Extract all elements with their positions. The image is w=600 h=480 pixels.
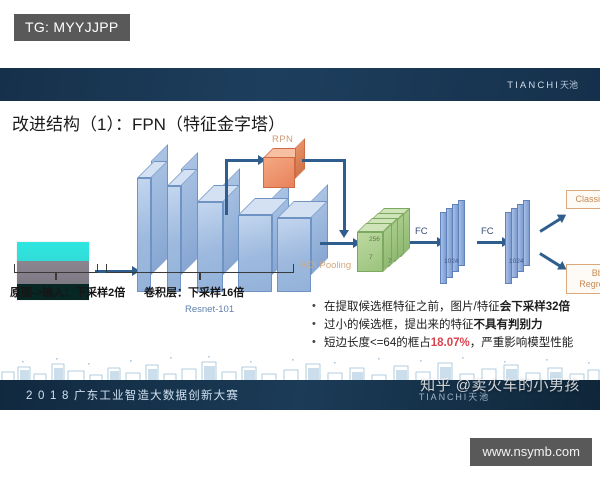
fc-layer-stack-2: 1024 (505, 200, 539, 278)
resnet-block-3 (197, 202, 223, 292)
brace-right (106, 264, 294, 273)
arrow-to-rpn (225, 159, 259, 162)
bullet-2-bold: 不具有判别力 (474, 319, 543, 331)
footer-event-title: 2 0 1 8 广东工业智造大数据创新大赛 (26, 387, 239, 403)
bullet-1-plain: 在提取候选框特征之前，图片/特征 (324, 301, 500, 313)
fc-dim-label-2: 1024 (509, 258, 523, 265)
bbox-line-1: Bbox (592, 268, 600, 279)
bullet-item-2: 过小的候选框，提出来的特征不具有判别力 (312, 318, 573, 333)
screenshot-root: TG: MYYJJPP TIANCHI天池 改进结构（1）：FPN（特征金字塔） (0, 0, 600, 480)
rpn-branch-vertical (225, 160, 228, 215)
bullet-1-bold: 会下采样32倍 (500, 301, 570, 313)
bbox-line-2: Regression (579, 279, 600, 290)
presentation-slide: TIANCHI天池 改进结构（1）：FPN（特征金字塔） (0, 68, 600, 410)
bullet-3-plain: 短边长度<=64的框占 (324, 337, 431, 349)
fc-dim-label-1: 1024 (444, 258, 458, 265)
arrow-fc-1 (410, 241, 438, 244)
roi-feature-stack: 256 7 7 (357, 208, 407, 264)
rpn-label: RPN (272, 134, 293, 145)
resnet-block-5 (277, 218, 311, 292)
bullet-list: 在提取候选框特征之前，图片/特征会下采样32倍 过小的候选框，提出来的特征不具有… (312, 300, 573, 355)
rpn-out-horizontal (302, 159, 345, 162)
arrow-to-roi-pooling (320, 242, 354, 245)
tianchi-logo-latin: TIANCHI (507, 80, 560, 91)
brace-right-tick (199, 273, 201, 280)
resnet-block-1 (137, 178, 151, 292)
tg-overlay-badge: TG: MYYJJPP (14, 14, 130, 41)
resnet-block-2 (167, 186, 181, 292)
arrow-to-bbox-regression (539, 252, 561, 267)
fc-layer-stack-1: 1024 (440, 200, 474, 278)
caption-left: 原图->输入：下采样2倍 (10, 284, 125, 300)
slide-footer: 2 0 1 8 广东工业智造大数据创新大赛 TIANCHI天池 知乎 @卖火车的… (0, 354, 600, 410)
bullet-3-plain-tail: ，严重影响模型性能 (470, 337, 574, 349)
tianchi-logo-top: TIANCHI天池 (507, 78, 578, 91)
roi-pooling-label: ROI Pooling (300, 260, 351, 271)
roi-size-label-b: 7 (388, 258, 392, 265)
arrow-fc-2 (477, 241, 503, 244)
arrow-to-classification (539, 217, 561, 232)
rpn-out-vertical (343, 159, 346, 231)
bullet-2-plain: 过小的候选框，提出来的特征 (324, 319, 474, 331)
bullet-item-1: 在提取候选框特征之前，图片/特征会下采样32倍 (312, 300, 573, 315)
url-overlay-badge: www.nsymb.com (470, 438, 592, 466)
slide-top-banner: TIANCHI天池 (0, 68, 600, 101)
resnet-caption: Resnet-101 (185, 304, 234, 315)
thumb-band-cyan (17, 242, 89, 261)
brace-left-tick (55, 273, 57, 280)
bullet-item-3: 短边长度<=64的框占18.07%，严重影响模型性能 (312, 336, 573, 351)
output-box-classification: Classification (566, 190, 600, 209)
tianchi-logo-cn: 天池 (560, 80, 578, 90)
rpn-module-cube (263, 148, 303, 184)
bullet-3-highlight: 18.07% (431, 337, 470, 349)
roi-size-label-a: 7 (369, 254, 373, 261)
fc-label-1: FC (415, 226, 428, 237)
output-box-bbox-regression: Bbox Regression (566, 264, 600, 294)
roi-channels-label: 256 (369, 236, 380, 243)
caption-right: 卷积层：下采样16倍 (144, 284, 244, 300)
fc-label-2: FC (481, 226, 494, 237)
resnet-block-4 (238, 215, 272, 292)
brace-left (14, 264, 98, 273)
zhihu-watermark: 知乎 @卖火车的小男孩 (420, 374, 580, 395)
